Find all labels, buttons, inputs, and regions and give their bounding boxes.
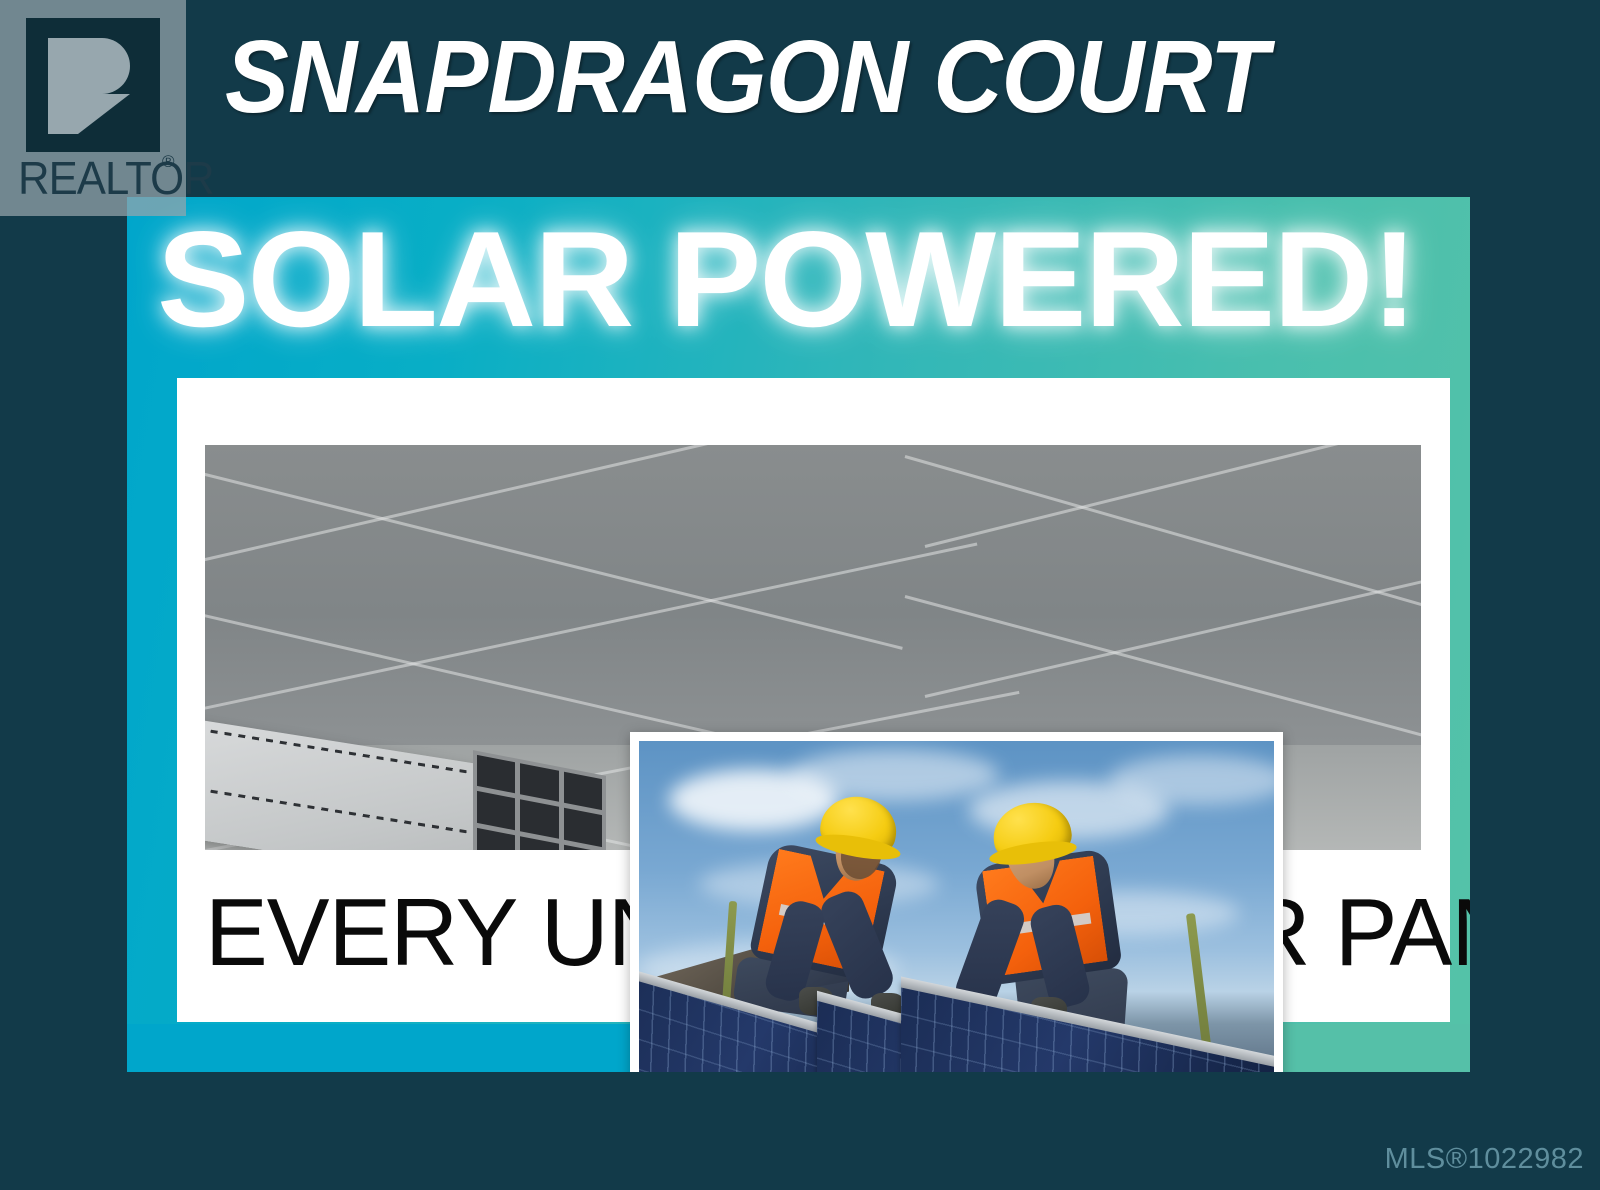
panel-cell [520, 800, 558, 839]
cloud [789, 749, 999, 801]
mls-watermark: MLS®1022982 [1385, 1143, 1584, 1176]
realtor-r-bowl [78, 38, 130, 94]
cloud [1109, 755, 1274, 805]
panel-cell [520, 836, 558, 850]
photo-inner [639, 741, 1274, 1072]
panel-cell [477, 791, 515, 830]
banner-headline: SOLAR POWERED! [157, 209, 1470, 349]
page-title: SNAPDRAGON COURT [225, 14, 1322, 139]
realtor-wordmark: REALTOR [18, 155, 214, 201]
realtor-r-stem [48, 38, 78, 134]
solar-installer-photo [630, 732, 1283, 1072]
panel-cell [477, 755, 515, 794]
content-panel: EVERY UNIT HAS SOLAR PANELS [177, 378, 1450, 1022]
realtor-r-icon [26, 18, 160, 152]
panel-cell [564, 808, 602, 847]
realtor-logo: REALTOR ® [0, 0, 186, 216]
header-bar: SNAPDRAGON COURT [0, 0, 1600, 197]
registered-trademark-icon: ® [162, 152, 175, 172]
panel-cell [477, 828, 515, 850]
render-sky [205, 445, 1421, 753]
realtor-r-leg [78, 94, 130, 134]
listing-card: SNAPDRAGON COURT REALTOR ® SOLAR POWERED… [0, 0, 1600, 1190]
solar-banner: SOLAR POWERED! [127, 197, 1470, 1072]
panel-cell [520, 763, 558, 802]
panel-cell [564, 772, 602, 811]
